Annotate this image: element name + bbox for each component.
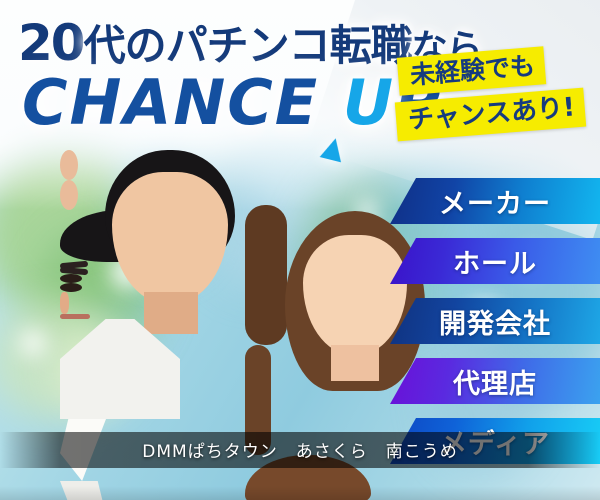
caption-text: DMMぱちタウン あさくら 南こうめ [0,437,600,462]
headline-number: 20 [18,14,84,72]
badge-line-2: チャンスあり! [395,88,587,142]
logo-up-u: U [343,66,395,139]
menu-item-developer[interactable]: 開発会社 [390,298,600,344]
menu-item-maker[interactable]: メーカー [390,178,600,224]
menu-item-hall[interactable]: ホール [390,238,600,284]
promo-banner: 20代のパチンコ転職なら CHANCE UP 未経験でも チャンスあり! メーカ… [0,0,600,500]
logo-chance-text: CHANCE [22,66,319,139]
bottom-fade [0,486,600,500]
chance-up-logo: CHANCE UP [22,72,443,134]
badge-line-1: 未経験でも [397,46,547,95]
menu-item-agency[interactable]: 代理店 [390,358,600,404]
headline-middle: 代のパチンコ転職 [84,21,412,70]
experience-badge: 未経験でも チャンスあり! [398,52,598,134]
